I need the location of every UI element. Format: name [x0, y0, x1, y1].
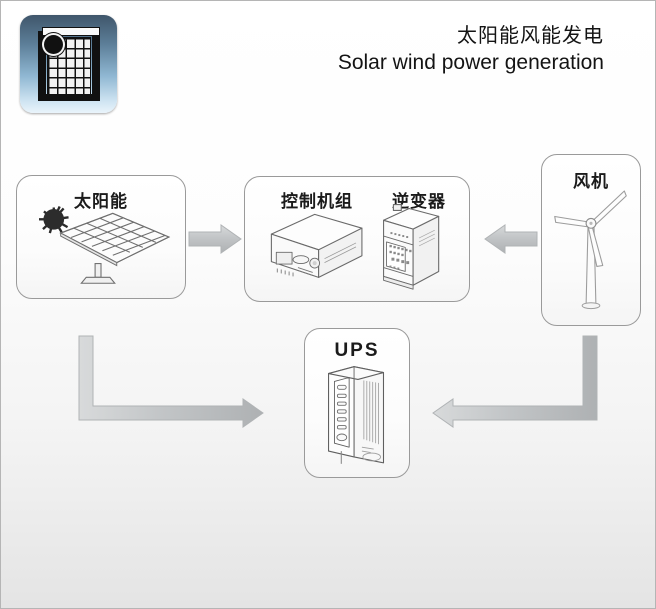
inverter-cabinet-icon — [384, 205, 439, 290]
connector-wind-to-inverter — [485, 225, 537, 253]
solar-panel-icon — [17, 176, 185, 298]
node-ups[interactable]: UPS — [304, 328, 410, 478]
node-solar[interactable]: 太阳能 — [16, 175, 186, 299]
connector-wind-to-ups — [433, 336, 597, 427]
node-center-group[interactable]: 控制机组 逆变器 — [244, 176, 470, 302]
panel-stand — [81, 264, 114, 284]
connector-solar-to-control — [189, 225, 241, 253]
ups-tower-icon — [305, 329, 409, 477]
connector-solar-to-ups — [79, 336, 263, 427]
controller-chassis-icon — [271, 214, 362, 277]
panel-array — [61, 213, 169, 262]
center-equipment-artwork — [245, 177, 469, 301]
diagram-canvas: 太阳能风能发电 Solar wind power generation — [0, 0, 656, 609]
wind-turbine-icon — [542, 155, 640, 325]
sun-icon — [39, 207, 69, 234]
node-wind[interactable]: 风机 — [541, 154, 641, 326]
